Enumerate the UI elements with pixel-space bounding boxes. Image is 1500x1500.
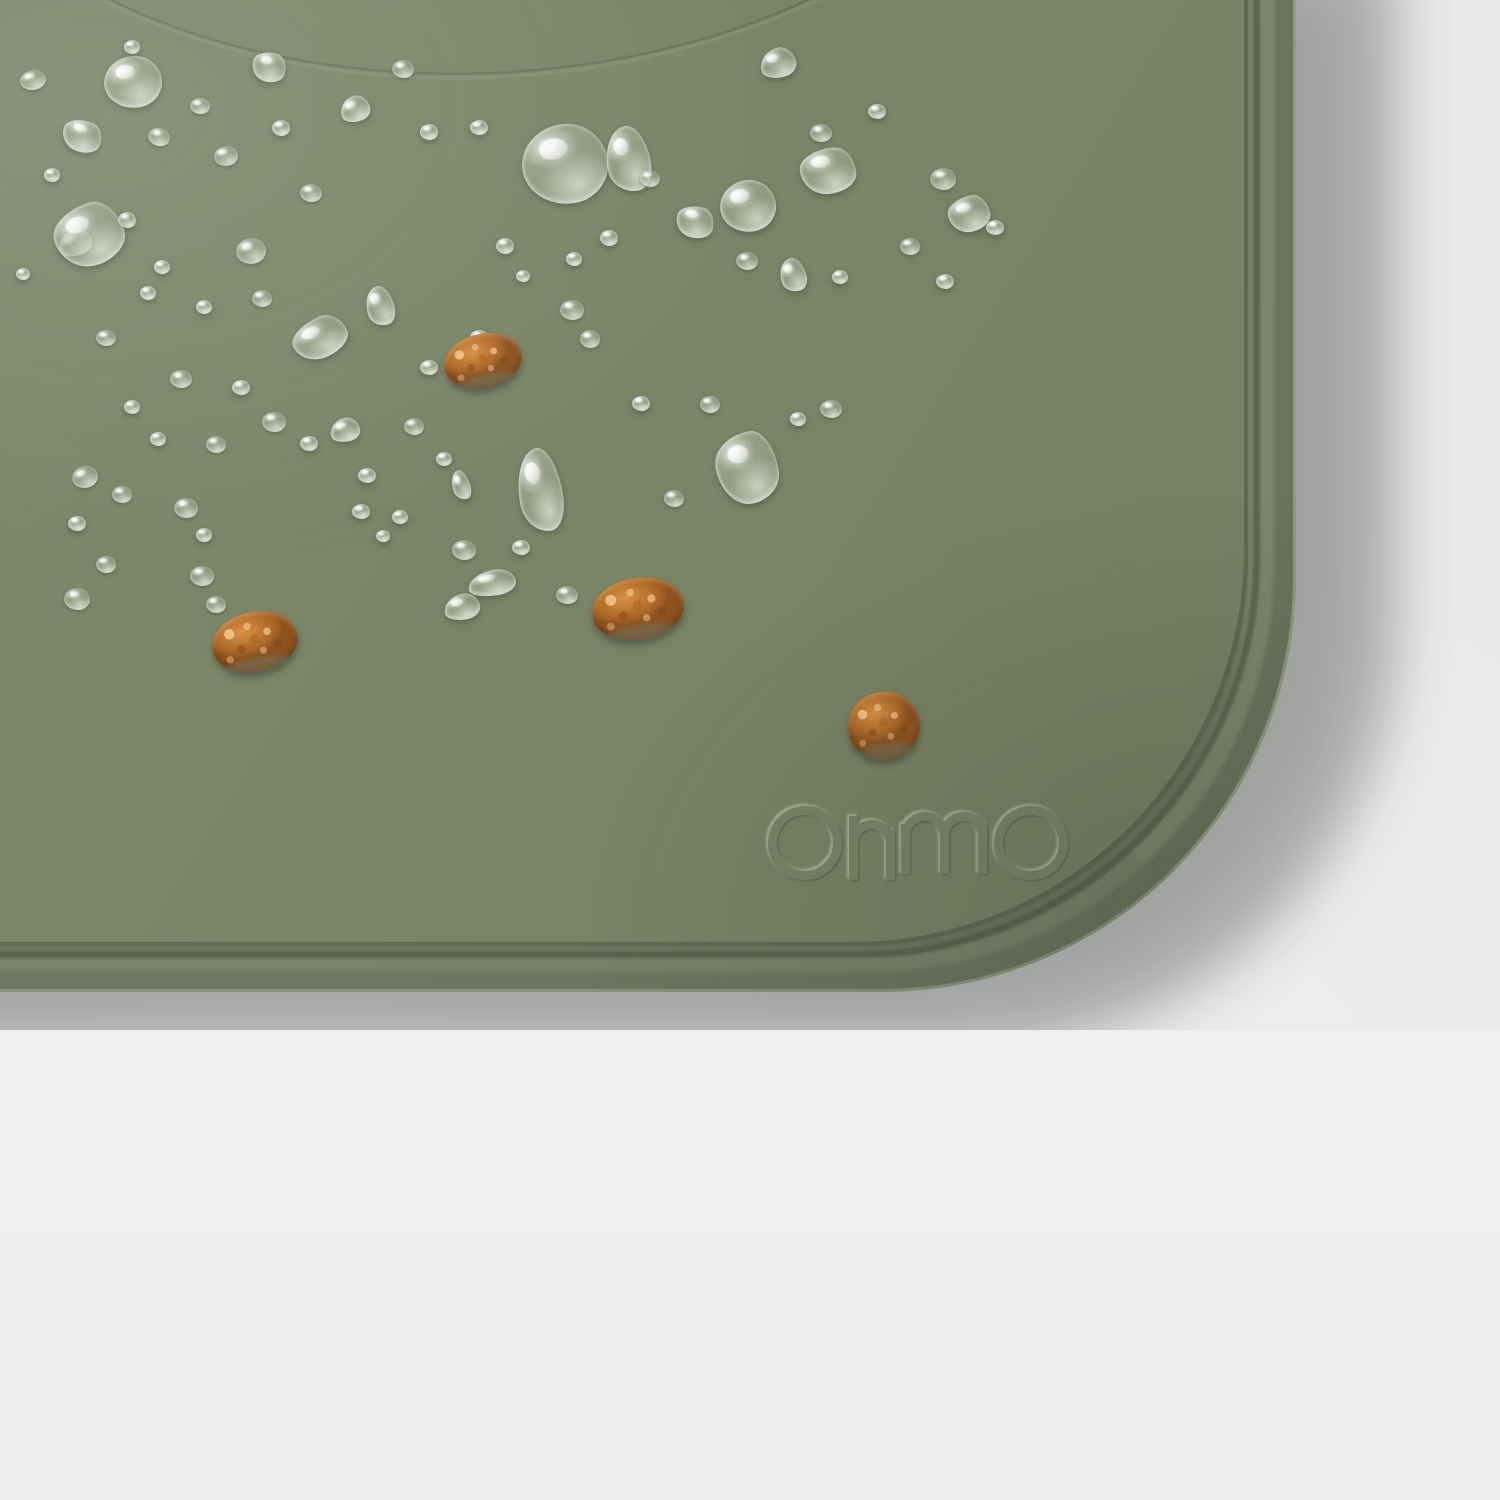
water-droplet (190, 98, 210, 114)
water-droplet (420, 124, 438, 140)
water-droplet (790, 412, 806, 426)
water-droplet (392, 60, 414, 78)
bowl-well-recess-highlight (0, 0, 1093, 108)
water-droplet (206, 596, 226, 613)
water-droplet (376, 530, 390, 542)
water-droplet (16, 268, 30, 280)
water-droplet (640, 170, 660, 187)
water-droplet (900, 238, 920, 255)
water-droplet (496, 238, 514, 254)
logo-letter-h (849, 806, 895, 880)
water-droplet (190, 566, 214, 586)
water-droplet (154, 260, 170, 274)
water-droplet (68, 516, 86, 531)
water-droplet (96, 330, 116, 346)
kibble-piece (845, 688, 924, 763)
water-droplet (392, 510, 408, 524)
logo-letter-o-first (768, 806, 842, 880)
water-droplet (516, 270, 530, 282)
water-droplet (358, 468, 376, 483)
water-droplet (868, 104, 886, 119)
product-marketing-image: 100% Waterproof • Easy to wipe up • Keep… (0, 0, 1500, 1500)
water-droplet (124, 40, 140, 54)
water-droplet (196, 528, 212, 542)
water-droplet (300, 184, 322, 202)
water-droplet (44, 168, 60, 182)
water-droplet (196, 300, 212, 314)
water-droplet (64, 588, 90, 610)
water-droplet (736, 252, 758, 270)
embossed-brand-logo (768, 800, 1068, 886)
logo-letter-o-last (994, 806, 1068, 880)
marketing-text-panel: 100% Waterproof • Easy to wipe up • Keep… (0, 1030, 1500, 1500)
water-droplet (930, 168, 956, 190)
water-droplet (124, 400, 140, 414)
water-droplet (140, 286, 156, 300)
water-droplet (810, 124, 832, 142)
water-droplet (566, 252, 582, 266)
water-droplet (820, 400, 842, 418)
water-droplet (272, 120, 290, 136)
water-droplet (404, 418, 424, 435)
water-droplet (832, 270, 848, 284)
water-droplet (600, 230, 618, 246)
water-droplet (232, 380, 250, 395)
water-droplet (174, 498, 198, 518)
water-droplet (664, 490, 684, 507)
water-droplet (986, 220, 1004, 235)
water-droplet (300, 436, 318, 451)
kibble-piece (588, 572, 688, 646)
water-droplet (112, 486, 132, 503)
water-droplet (580, 330, 600, 348)
water-droplet (512, 540, 530, 555)
water-droplet (560, 300, 584, 320)
water-droplet (556, 586, 578, 604)
water-droplet (436, 452, 452, 466)
water-droplet (150, 432, 166, 446)
water-droplet (470, 120, 488, 135)
water-droplet (206, 436, 226, 453)
water-droplet (632, 396, 650, 411)
water-droplet (700, 396, 720, 413)
water-droplet (420, 360, 438, 375)
water-droplet (96, 556, 116, 573)
water-droplet (252, 290, 272, 307)
water-droplet (352, 504, 370, 519)
product-photo (0, 0, 1500, 1030)
water-droplet (936, 274, 954, 289)
logo-letter-m (901, 812, 987, 874)
water-droplet (170, 370, 192, 388)
water-droplet (452, 540, 476, 560)
water-droplet (262, 412, 286, 432)
